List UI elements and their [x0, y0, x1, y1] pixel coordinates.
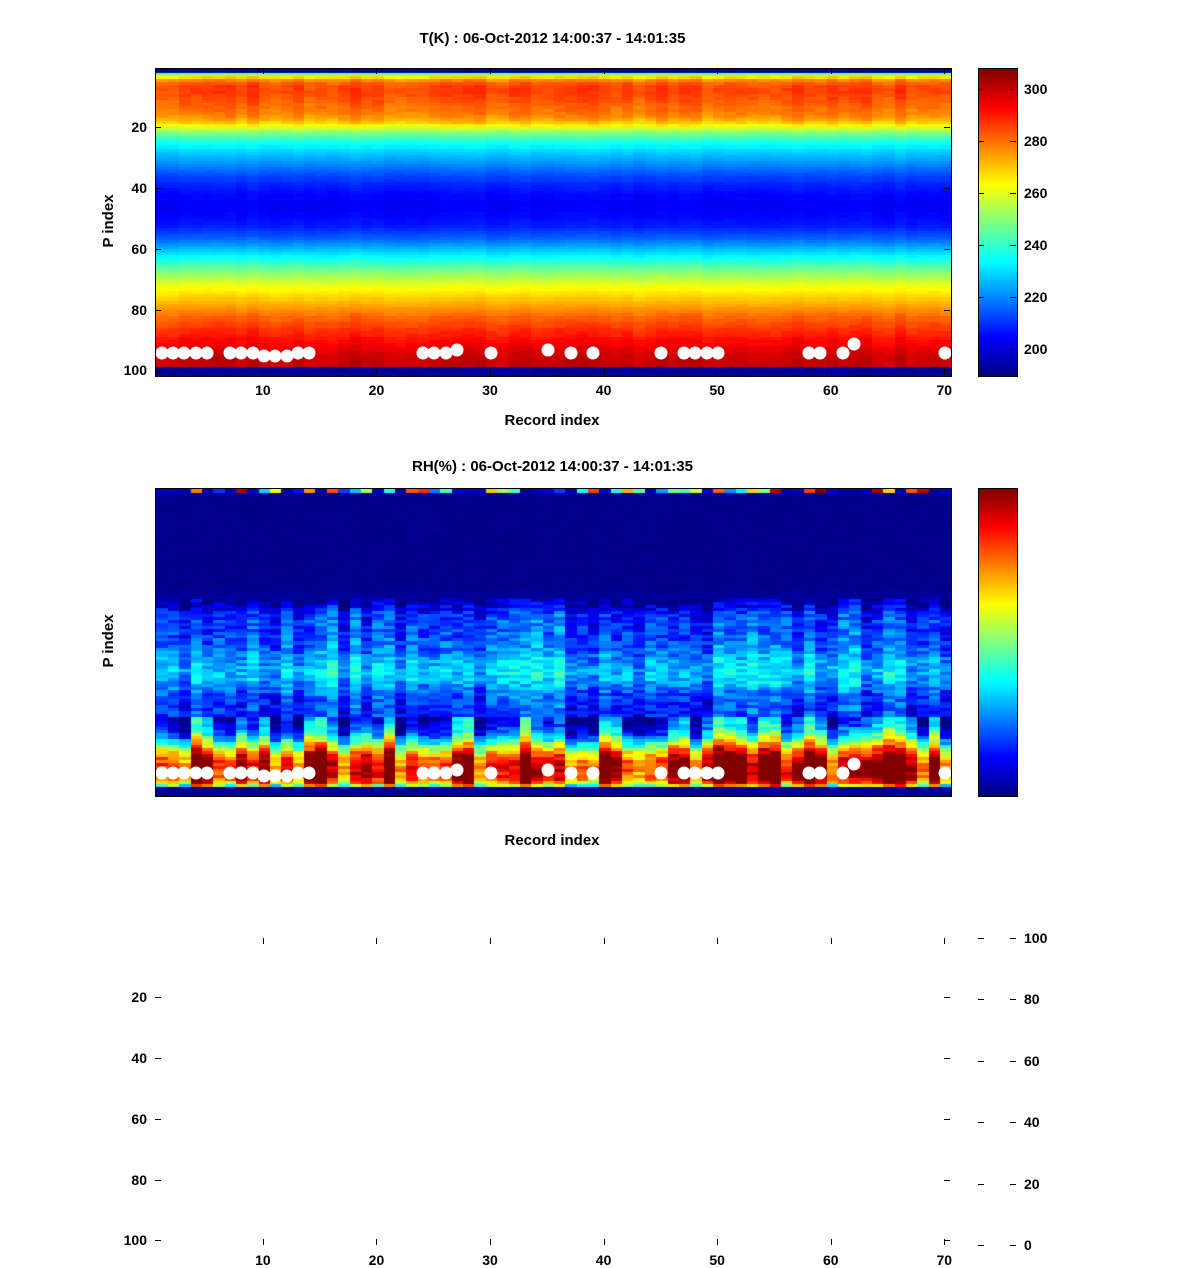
- colorbar-canvas-temperature: [979, 69, 1017, 376]
- colorbar-tick-mark: [978, 193, 984, 194]
- ytick-mark: [944, 1240, 950, 1241]
- xtick-mark: [604, 1239, 605, 1245]
- colorbar-tick-label: 40: [1024, 1114, 1040, 1130]
- colorbar-tick-mark: [1010, 297, 1016, 298]
- ytick-mark: [944, 370, 950, 371]
- xtick-mark: [263, 1239, 264, 1245]
- xtick-label: 70: [937, 1252, 953, 1268]
- ytick-label: 60: [111, 1111, 147, 1127]
- xtick-mark: [376, 68, 377, 74]
- colorbar-tick-mark: [978, 999, 984, 1000]
- xtick-label: 20: [369, 382, 385, 398]
- xtick-mark: [944, 938, 945, 944]
- ytick-mark: [155, 127, 161, 128]
- colorbar-temperature[interactable]: [978, 68, 1018, 377]
- colorbar-tick-label: 0: [1024, 1237, 1032, 1253]
- colorbar-tick-label: 60: [1024, 1053, 1040, 1069]
- ytick-label: 20: [111, 119, 147, 135]
- xtick-label: 30: [482, 1252, 498, 1268]
- colorbar-tick-mark: [1010, 349, 1016, 350]
- xtick-mark: [831, 1239, 832, 1245]
- ytick-label: 20: [111, 989, 147, 1005]
- xtick-label: 70: [937, 382, 953, 398]
- ytick-mark: [155, 997, 161, 998]
- ytick-mark: [944, 188, 950, 189]
- ytick-label: 40: [111, 1050, 147, 1066]
- colorbar-tick-mark: [978, 938, 984, 939]
- xtick-mark: [944, 68, 945, 74]
- colorbar-tick-label: 20: [1024, 1176, 1040, 1192]
- colorbar-tick-label: 240: [1024, 237, 1047, 253]
- ytick-mark: [155, 1180, 161, 1181]
- colorbar-tick-label: 300: [1024, 81, 1047, 97]
- xtick-mark: [490, 369, 491, 375]
- ytick-mark: [155, 188, 161, 189]
- xtick-mark: [490, 68, 491, 74]
- xtick-mark: [376, 369, 377, 375]
- ytick-mark: [944, 310, 950, 311]
- colorbar-tick-mark: [978, 245, 984, 246]
- xtick-mark: [604, 938, 605, 944]
- heatmap-canvas-temperature: [156, 69, 951, 376]
- colorbar-tick-mark: [978, 349, 984, 350]
- colorbar-tick-label: 100: [1024, 930, 1047, 946]
- colorbar-tick-mark: [1010, 1184, 1016, 1185]
- xtick-label: 50: [709, 1252, 725, 1268]
- xtick-mark: [831, 938, 832, 944]
- xtick-mark: [490, 938, 491, 944]
- plot-title-relative-humidity: RH(%) : 06-Oct-2012 14:00:37 - 14:01:35: [155, 458, 950, 475]
- xtick-mark: [376, 938, 377, 944]
- xtick-label: 60: [823, 382, 839, 398]
- yaxis-label-relative-humidity: P index: [100, 614, 117, 667]
- xtick-mark: [717, 938, 718, 944]
- colorbar-tick-mark: [1010, 141, 1016, 142]
- xtick-mark: [263, 369, 264, 375]
- colorbar-tick-label: 220: [1024, 289, 1047, 305]
- ytick-label: 80: [111, 302, 147, 318]
- xtick-mark: [717, 1239, 718, 1245]
- colorbar-tick-mark: [978, 1122, 984, 1123]
- ytick-mark: [155, 1058, 161, 1059]
- xtick-mark: [831, 369, 832, 375]
- xtick-label: 50: [709, 382, 725, 398]
- xtick-label: 60: [823, 1252, 839, 1268]
- ytick-mark: [944, 249, 950, 250]
- xtick-label: 40: [596, 382, 612, 398]
- ytick-mark: [155, 1119, 161, 1120]
- xtick-label: 10: [255, 382, 271, 398]
- colorbar-tick-mark: [1010, 1122, 1016, 1123]
- xtick-label: 10: [255, 1252, 271, 1268]
- ytick-mark: [944, 997, 950, 998]
- colorbar-tick-label: 260: [1024, 185, 1047, 201]
- colorbar-tick-mark: [978, 89, 984, 90]
- xtick-label: 20: [369, 1252, 385, 1268]
- xtick-label: 30: [482, 382, 498, 398]
- xtick-mark: [263, 68, 264, 74]
- panel-temperature: T(K) : 06-Oct-2012 14:00:37 - 14:01:35 1…: [0, 0, 1200, 450]
- ytick-label: 80: [111, 1172, 147, 1188]
- colorbar-tick-mark: [978, 297, 984, 298]
- ytick-mark: [944, 127, 950, 128]
- xaxis-label-temperature: Record index: [504, 412, 599, 429]
- ytick-label: 100: [111, 362, 147, 378]
- ytick-mark: [155, 1240, 161, 1241]
- matlab-figure: T(K) : 06-Oct-2012 14:00:37 - 14:01:35 1…: [0, 0, 1200, 900]
- heatmap-axes-relative-humidity[interactable]: [155, 488, 952, 797]
- xtick-mark: [831, 68, 832, 74]
- colorbar-tick-mark: [978, 1245, 984, 1246]
- colorbar-canvas-relative-humidity: [979, 489, 1017, 796]
- ytick-mark: [944, 1119, 950, 1120]
- plot-title-temperature: T(K) : 06-Oct-2012 14:00:37 - 14:01:35: [155, 30, 950, 47]
- colorbar-tick-label: 200: [1024, 341, 1047, 357]
- heatmap-axes-temperature[interactable]: [155, 68, 952, 377]
- colorbar-tick-mark: [978, 1184, 984, 1185]
- yaxis-label-temperature: P index: [100, 194, 117, 247]
- heatmap-canvas-relative-humidity: [156, 489, 951, 796]
- colorbar-tick-label: 280: [1024, 133, 1047, 149]
- colorbar-tick-mark: [1010, 999, 1016, 1000]
- xtick-mark: [717, 68, 718, 74]
- colorbar-tick-label: 80: [1024, 991, 1040, 1007]
- ytick-mark: [944, 1180, 950, 1181]
- panel-relative-humidity: RH(%) : 06-Oct-2012 14:00:37 - 14:01:35 …: [0, 450, 1200, 900]
- colorbar-tick-mark: [1010, 1061, 1016, 1062]
- xtick-mark: [604, 68, 605, 74]
- ytick-mark: [155, 310, 161, 311]
- ytick-label: 100: [111, 1232, 147, 1248]
- colorbar-tick-mark: [1010, 89, 1016, 90]
- xtick-mark: [604, 369, 605, 375]
- xtick-mark: [717, 369, 718, 375]
- colorbar-tick-mark: [978, 1061, 984, 1062]
- xtick-mark: [376, 1239, 377, 1245]
- xtick-mark: [263, 938, 264, 944]
- colorbar-tick-mark: [1010, 193, 1016, 194]
- colorbar-relative-humidity[interactable]: [978, 488, 1018, 797]
- ytick-mark: [944, 1058, 950, 1059]
- colorbar-tick-mark: [1010, 245, 1016, 246]
- ytick-mark: [155, 370, 161, 371]
- colorbar-tick-mark: [1010, 1245, 1016, 1246]
- ytick-mark: [155, 249, 161, 250]
- xaxis-label-relative-humidity: Record index: [504, 832, 599, 849]
- colorbar-tick-mark: [1010, 938, 1016, 939]
- xtick-label: 40: [596, 1252, 612, 1268]
- xtick-mark: [490, 1239, 491, 1245]
- colorbar-tick-mark: [978, 141, 984, 142]
